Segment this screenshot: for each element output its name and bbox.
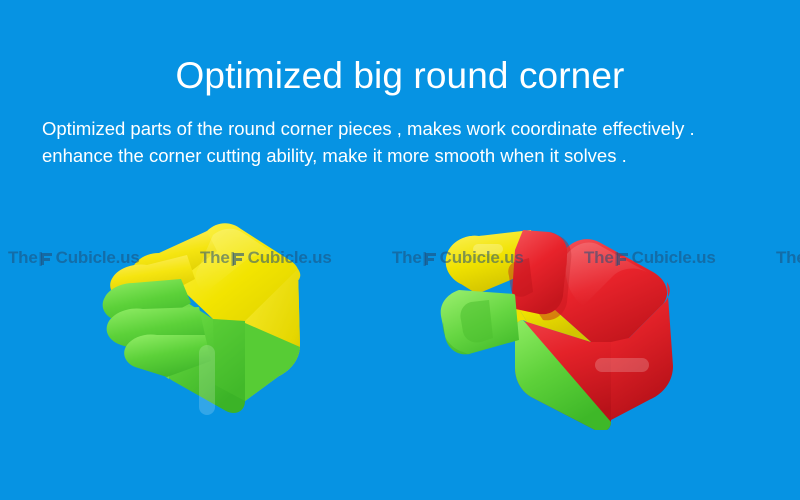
product-photo bbox=[0, 185, 800, 450]
corner-piece-green-yellow bbox=[95, 195, 335, 425]
description-block: Optimized parts of the round corner piec… bbox=[42, 115, 782, 169]
corner-piece-red-green-yellow bbox=[415, 190, 700, 430]
description-line-1: Optimized parts of the round corner piec… bbox=[42, 115, 782, 142]
slide-canvas: Optimized big round corner Optimized par… bbox=[0, 0, 800, 500]
page-title: Optimized big round corner bbox=[0, 54, 800, 98]
description-line-2: enhance the corner cutting ability, make… bbox=[42, 142, 782, 169]
